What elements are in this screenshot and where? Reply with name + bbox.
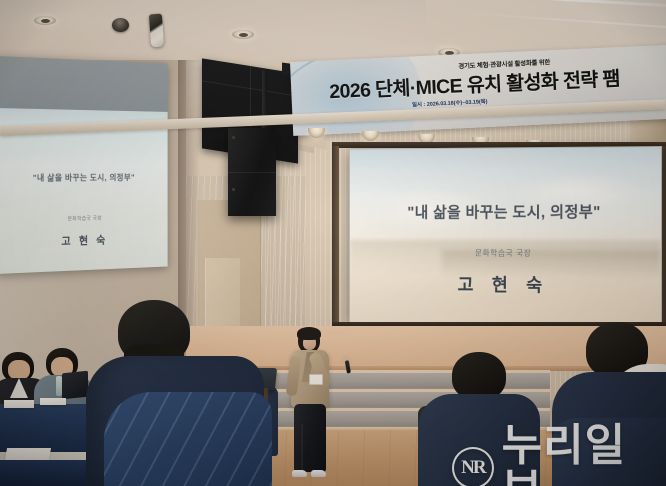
draped-puffer-jacket bbox=[104, 392, 272, 486]
nuri-ilbo-logo-icon: NR bbox=[452, 447, 494, 486]
watermark-text: 누리일보 bbox=[502, 424, 666, 486]
screen-main-presenter-name: 고 현 숙 bbox=[350, 271, 661, 298]
presenter-shoe-right bbox=[311, 470, 326, 477]
screen-frame-left bbox=[332, 146, 339, 326]
screen-main-haze bbox=[350, 147, 661, 325]
security-camera-icon bbox=[112, 18, 129, 32]
screen-left-blur-overlay bbox=[0, 56, 168, 274]
paper-document bbox=[40, 398, 66, 405]
conference-photo: "내 삶을 바꾸는 도시, 의정부" 문화학습국 국장 고 현 숙 경기도 체험… bbox=[0, 0, 666, 486]
screen-main-title: "내 삶을 바꾸는 도시, 의정부" bbox=[350, 200, 661, 222]
presenter-figure bbox=[286, 328, 338, 480]
audience-head bbox=[452, 352, 506, 400]
presenter-trousers bbox=[294, 404, 326, 472]
downlight-icon bbox=[34, 16, 56, 25]
screen-main-subtitle: 문화학습국 국장 bbox=[350, 248, 661, 259]
presenter-hair bbox=[297, 327, 321, 340]
paper-document bbox=[5, 448, 51, 460]
line-array-speaker bbox=[228, 128, 276, 216]
laptop-icon bbox=[62, 371, 88, 400]
audience-face bbox=[8, 360, 30, 380]
projection-screen-main: "내 삶을 바꾸는 도시, 의정부" 문화학습국 국장 고 현 숙 bbox=[349, 146, 662, 326]
presenter-name-badge bbox=[309, 374, 323, 385]
presenter-leg-split bbox=[301, 424, 303, 472]
projection-screen-left: "내 삶을 바꾸는 도시, 의정부" 문화학습국 국장 고 현 숙 bbox=[0, 56, 168, 274]
paper-document bbox=[4, 400, 34, 408]
ceiling-device-icon bbox=[149, 14, 164, 48]
downlight-icon bbox=[232, 30, 254, 39]
watermark: NR 누리일보 bbox=[452, 424, 666, 486]
presenter-shoe-left bbox=[292, 470, 307, 477]
